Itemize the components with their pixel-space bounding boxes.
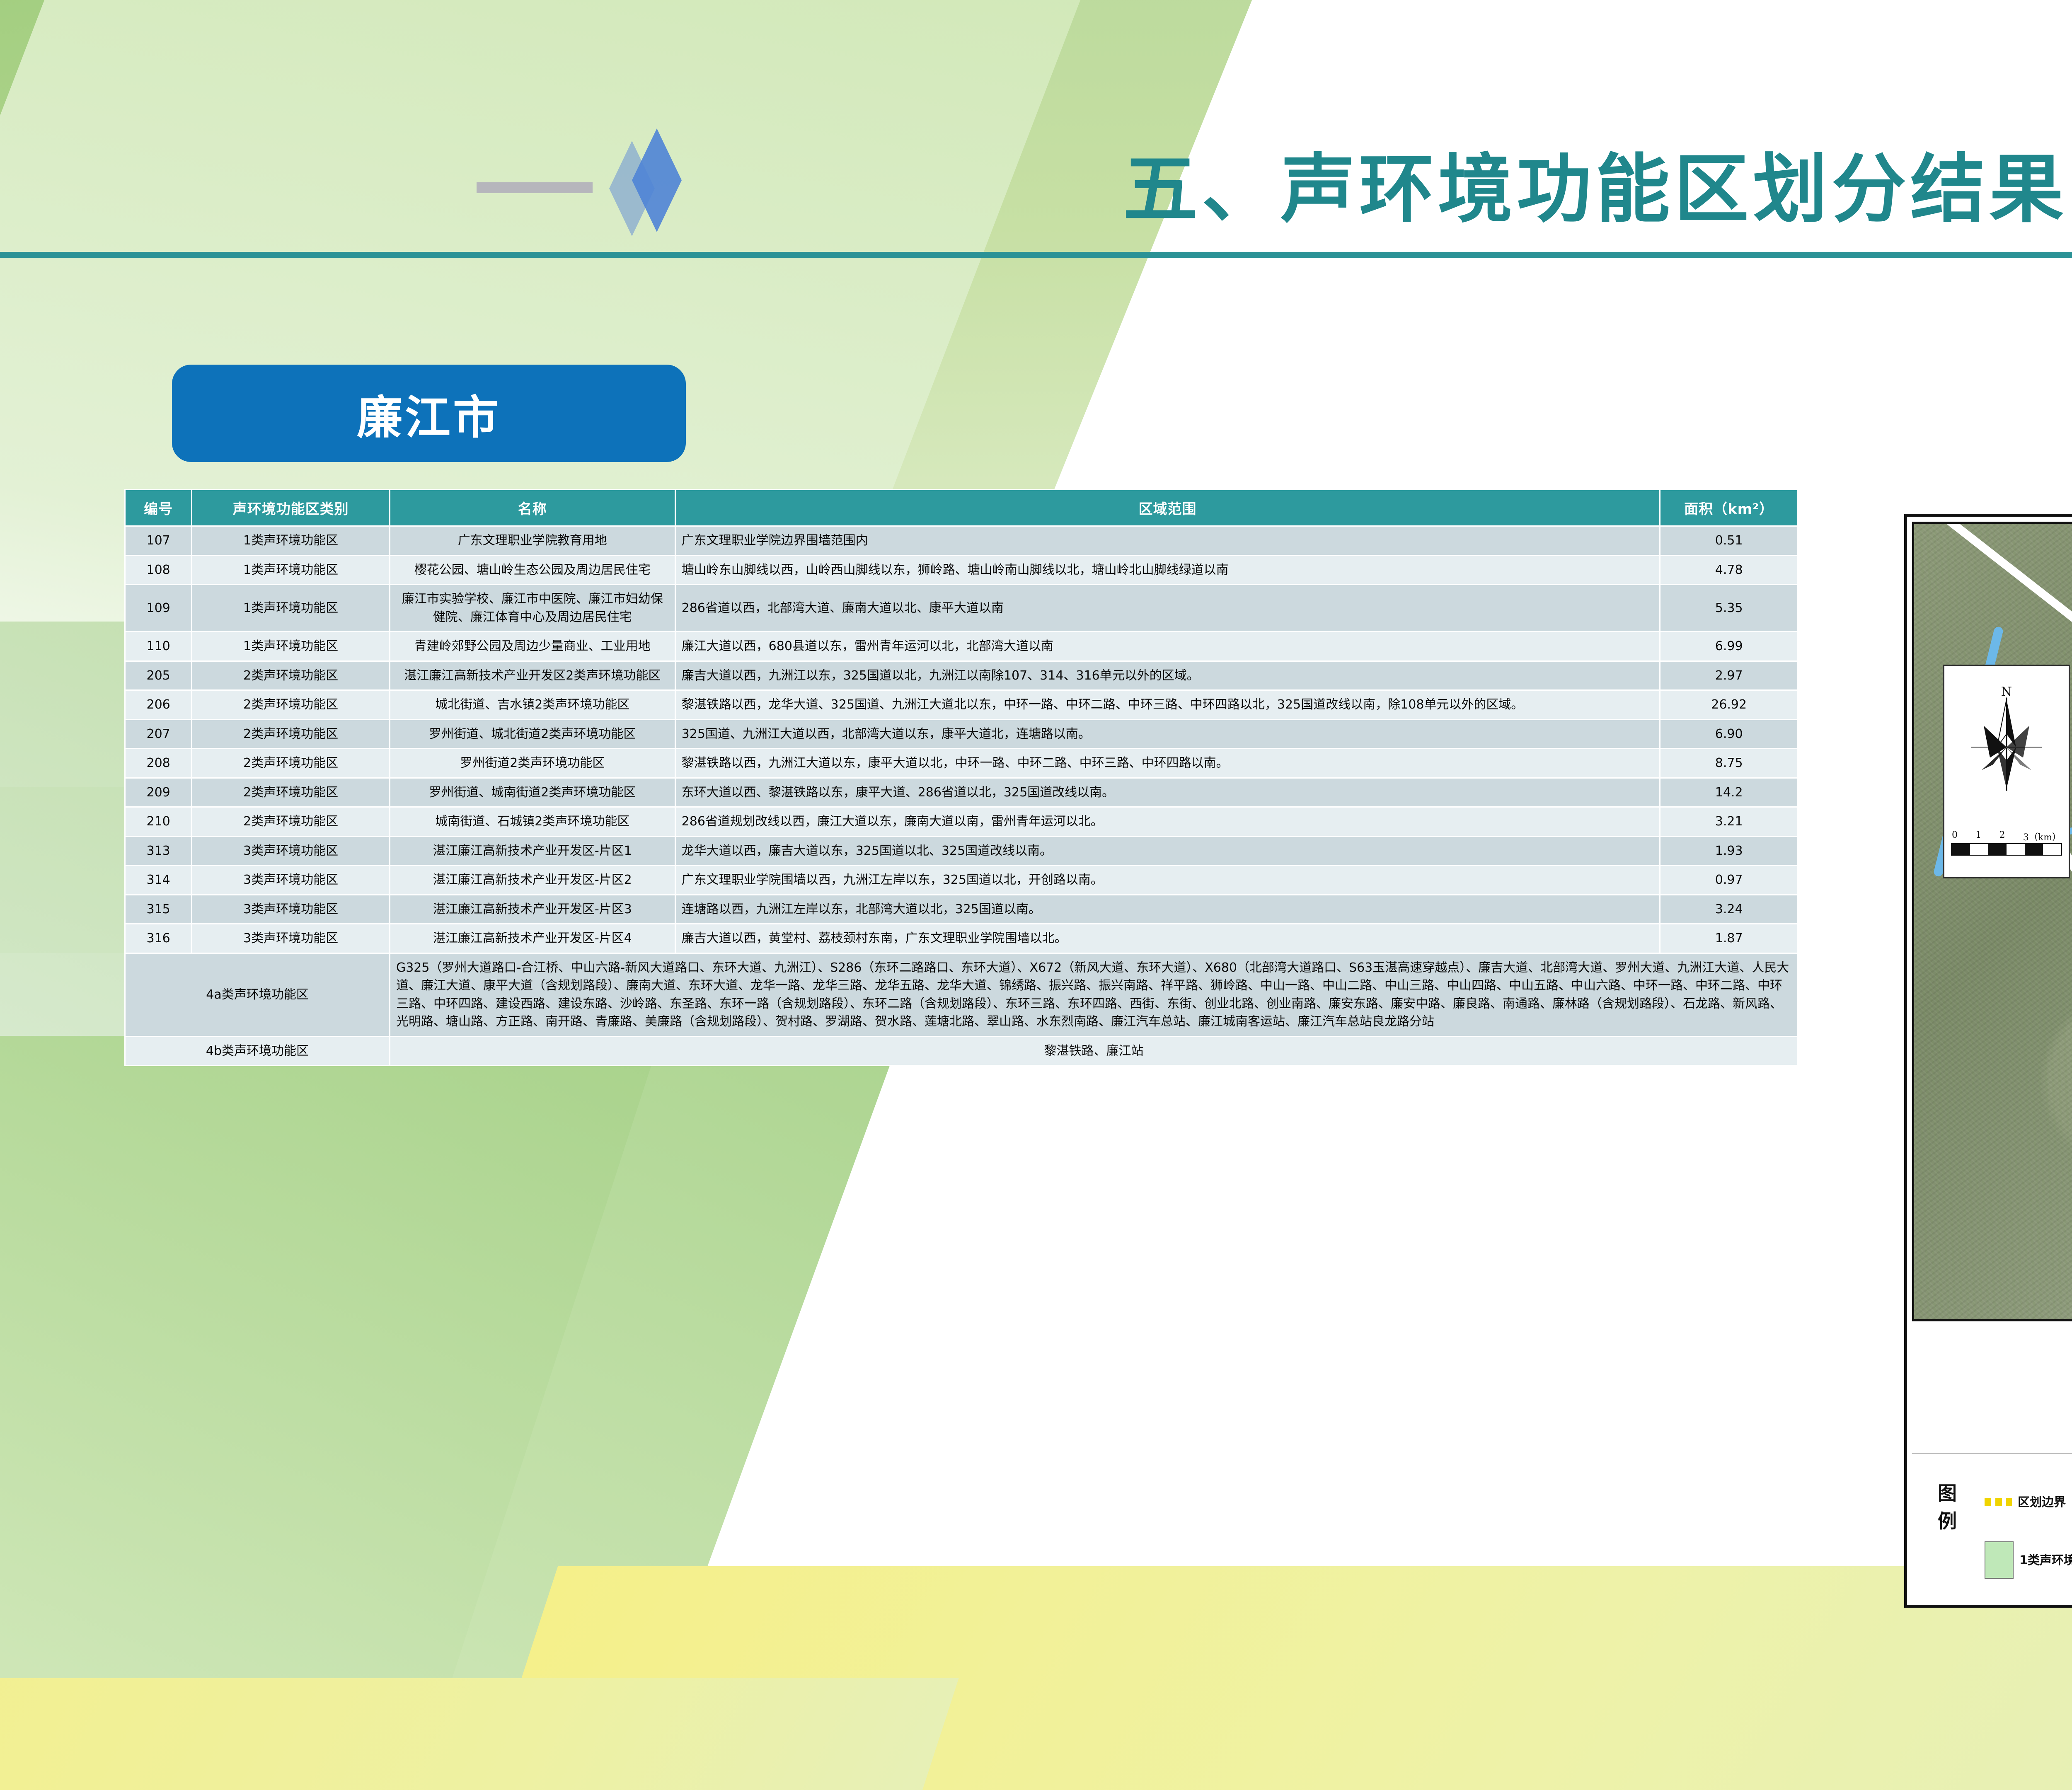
cell-id: 209	[126, 779, 191, 807]
cell-name: 湛江廉江高新技术产业开发区-片区2	[390, 866, 675, 894]
cell-name: 罗州街道2类声环境功能区	[390, 749, 675, 777]
legend-item-label: 区划边界	[2018, 1495, 2066, 1509]
table-row: 1071类声环境功能区广东文理职业学院教育用地广东文理职业学院边界围墙范围内0.…	[126, 527, 1797, 555]
table-row: 1091类声环境功能区廉江市实验学校、廉江市中医院、廉江市妇幼保健院、廉江体育中…	[126, 585, 1797, 631]
cell-range: 325国道、九洲江大道以西，北部湾大道以东，康平大道北，连塘路以南。	[676, 720, 1660, 748]
cell-area: 6.99	[1661, 632, 1797, 660]
cell-name: 湛江廉江高新技术产业开发区-片区4	[390, 924, 675, 953]
cell-span-cat: 4a类声环境功能区	[126, 954, 389, 1036]
cell-id: 110	[126, 632, 191, 660]
cell-cat: 2类声环境功能区	[192, 749, 389, 777]
table-row: 2092类声环境功能区罗州街道、城南街道2类声环境功能区东环大道以西、黎湛铁路以…	[126, 779, 1797, 807]
cell-cat: 3类声环境功能区	[192, 895, 389, 924]
cell-id: 314	[126, 866, 191, 894]
svg-text:N: N	[2001, 685, 2012, 699]
cell-area: 26.92	[1661, 691, 1797, 719]
page-title: 五、声环境功能区划分结果	[787, 120, 2072, 244]
cell-name: 城南街道、石城镇2类声环境功能区	[390, 808, 675, 836]
legend-item: 1类声环境功能区	[1985, 1531, 2072, 1589]
table-row: 3143类声环境功能区湛江廉江高新技术产业开发区-片区2广东文理职业学院围墙以西…	[126, 866, 1797, 894]
table-span-row: 4a类声环境功能区G325（罗州大道路口-合江桥、中山六路-新风大道路口、东环大…	[126, 954, 1797, 1036]
cell-range: 东环大道以西、黎湛铁路以东，康平大道、286省道以北，325国道改线以南。	[676, 779, 1660, 807]
table-row: 3133类声环境功能区湛江廉江高新技术产业开发区-片区1龙华大道以西，廉吉大道以…	[126, 837, 1797, 865]
cell-range: 廉江大道以西，680县道以东，雷州青年运河以北，北部湾大道以南	[676, 632, 1660, 660]
cell-id: 313	[126, 837, 191, 865]
col-header-area: 面积（km²）	[1661, 490, 1797, 525]
table-row: 1081类声环境功能区樱花公园、塘山岭生态公园及周边居民住宅塘山岭东山脚线以西，…	[126, 556, 1797, 584]
table-row: 2062类声环境功能区城北街道、吉水镇2类声环境功能区黎湛铁路以西，龙华大道、3…	[126, 691, 1797, 719]
boundary-line-icon	[1985, 1498, 2012, 1506]
cell-range: 286省道规划改线以西，廉江大道以东，廉南大道以南，雷州青年运河以北。	[676, 808, 1660, 836]
col-header-range: 区域范围	[676, 490, 1660, 525]
scale-tick-2: 2	[1999, 830, 2005, 843]
map-scale-bar: 0 1 2 3（km）	[1951, 830, 2062, 856]
city-badge-label: 廉江市	[357, 380, 501, 447]
cell-range: 廉吉大道以西，黄堂村、荔枝颈村东南，广东文理职业学院围墙以北。	[676, 924, 1660, 953]
legend-swatch-icon	[1985, 1541, 2014, 1579]
cell-range: 塘山岭东山脚线以西，山岭西山脚线以东，狮岭路、塘山岭南山脚线以北，塘山岭北山脚线…	[676, 556, 1660, 584]
cell-name: 罗州街道、城北街道2类声环境功能区	[390, 720, 675, 748]
cell-id: 207	[126, 720, 191, 748]
compass-and-scale-box: N 0 1 2 3（km）	[1943, 665, 2070, 878]
table-row: 3163类声环境功能区湛江廉江高新技术产业开发区-片区4廉吉大道以西，黄堂村、荔…	[126, 924, 1797, 953]
table-row: 2102类声环境功能区城南街道、石城镇2类声环境功能区286省道规划改线以西，廉…	[126, 808, 1797, 836]
cell-cat: 1类声环境功能区	[192, 632, 389, 660]
cell-area: 1.87	[1661, 924, 1797, 953]
cell-area: 3.24	[1661, 895, 1797, 924]
map-image: 廉江市声环境功能区划图 N	[1912, 522, 2072, 1321]
col-header-name: 名称	[390, 490, 675, 525]
cell-area: 3.21	[1661, 808, 1797, 836]
legend-items: 区划边界2类声环境功能区4a类声环境功能区铁路铁路服务场站1类声环境功能区3类声…	[1985, 1473, 2072, 1589]
cell-id: 108	[126, 556, 191, 584]
cell-name: 樱花公园、塘山岭生态公园及周边居民住宅	[390, 556, 675, 584]
table-row: 1101类声环境功能区青建岭郊野公园及周边少量商业、工业用地廉江大道以西，680…	[126, 632, 1797, 660]
cell-cat: 1类声环境功能区	[192, 527, 389, 555]
table-header-row: 编号 声环境功能区类别 名称 区域范围 面积（km²）	[126, 490, 1797, 525]
scale-tick-3: 3（km）	[2023, 830, 2061, 843]
decor-line-left	[477, 182, 593, 193]
cell-id: 109	[126, 585, 191, 631]
cell-span-text: 黎湛铁路、廉江站	[390, 1037, 1797, 1065]
cell-span-text: G325（罗州大道路口-合江桥、中山六路-新风大道路口、东环大道、九洲江）、S2…	[390, 954, 1797, 1036]
cell-area: 1.93	[1661, 837, 1797, 865]
cell-area: 6.90	[1661, 720, 1797, 748]
cell-cat: 1类声环境功能区	[192, 585, 389, 631]
cell-cat: 3类声环境功能区	[192, 866, 389, 894]
cell-range: 廉吉大道以西，九洲江以东，325国道以北，九洲江以南除107、314、316单元…	[676, 662, 1660, 690]
cell-area: 8.75	[1661, 749, 1797, 777]
zone-table: 编号 声环境功能区类别 名称 区域范围 面积（km²） 1071类声环境功能区广…	[124, 489, 1798, 1066]
cell-area: 2.97	[1661, 662, 1797, 690]
cell-id: 315	[126, 895, 191, 924]
table-row: 2082类声环境功能区罗州街道2类声环境功能区黎湛铁路以西，九洲江大道以东，康平…	[126, 749, 1797, 777]
table-row: 2072类声环境功能区罗州街道、城北街道2类声环境功能区325国道、九洲江大道以…	[126, 720, 1797, 748]
table-row: 3153类声环境功能区湛江廉江高新技术产业开发区-片区3连塘路以西，九洲江左岸以…	[126, 895, 1797, 924]
cell-id: 316	[126, 924, 191, 953]
cell-cat: 2类声环境功能区	[192, 662, 389, 690]
cell-area: 4.78	[1661, 556, 1797, 584]
legend-item-label: 1类声环境功能区	[2019, 1553, 2072, 1567]
header-divider-rule	[0, 252, 2072, 258]
cell-cat: 1类声环境功能区	[192, 556, 389, 584]
city-badge: 廉江市	[172, 365, 686, 462]
map-legend: 图例 区划边界2类声环境功能区4a类声环境功能区铁路铁路服务场站1类声环境功能区…	[1912, 1453, 2072, 1600]
cell-id: 210	[126, 808, 191, 836]
cell-id: 206	[126, 691, 191, 719]
cell-area: 5.35	[1661, 585, 1797, 631]
zone-table-container: 编号 声环境功能区类别 名称 区域范围 面积（km²） 1071类声环境功能区广…	[124, 489, 1798, 1066]
cell-name: 廉江市实验学校、廉江市中医院、廉江市妇幼保健院、廉江体育中心及周边居民住宅	[390, 585, 675, 631]
cell-cat: 3类声环境功能区	[192, 924, 389, 953]
cell-area: 0.51	[1661, 527, 1797, 555]
cell-name: 湛江廉江高新技术产业开发区2类声环境功能区	[390, 662, 675, 690]
map-panel: 廉江市声环境功能区划图 N	[1904, 514, 2072, 1608]
cell-cat: 2类声环境功能区	[192, 720, 389, 748]
cell-area: 14.2	[1661, 779, 1797, 807]
scale-tick-1: 1	[1975, 830, 1981, 843]
cell-name: 湛江廉江高新技术产业开发区-片区1	[390, 837, 675, 865]
legend-title: 图例	[1929, 1480, 1966, 1535]
cell-name: 湛江廉江高新技术产业开发区-片区3	[390, 895, 675, 924]
legend-item: 区划边界	[1985, 1473, 2072, 1531]
cell-cat: 2类声环境功能区	[192, 779, 389, 807]
cell-id: 107	[126, 527, 191, 555]
cell-range: 广东文理职业学院边界围墙范围内	[676, 527, 1660, 555]
cell-cat: 2类声环境功能区	[192, 691, 389, 719]
cell-range: 广东文理职业学院围墙以西，九洲江左岸以东，325国道以北，开创路以南。	[676, 866, 1660, 894]
cell-name: 广东文理职业学院教育用地	[390, 527, 675, 555]
table-span-row: 4b类声环境功能区黎湛铁路、廉江站	[126, 1037, 1797, 1065]
cell-name: 青建岭郊野公园及周边少量商业、工业用地	[390, 632, 675, 660]
cell-name: 罗州街道、城南街道2类声环境功能区	[390, 779, 675, 807]
cell-range: 龙华大道以西，廉吉大道以东，325国道以北、325国道改线以南。	[676, 837, 1660, 865]
scale-tick-0: 0	[1952, 830, 1958, 843]
decor-diamonds-left	[593, 124, 725, 249]
cell-span-cat: 4b类声环境功能区	[126, 1037, 389, 1065]
cell-range: 286省道以西，北部湾大道、廉南大道以北、康平大道以南	[676, 585, 1660, 631]
cell-cat: 3类声环境功能区	[192, 837, 389, 865]
cell-cat: 2类声环境功能区	[192, 808, 389, 836]
cell-id: 208	[126, 749, 191, 777]
cell-name: 城北街道、吉水镇2类声环境功能区	[390, 691, 675, 719]
compass-rose-icon: N	[1967, 685, 2046, 799]
col-header-cat: 声环境功能区类别	[192, 490, 389, 525]
cell-range: 黎湛铁路以西，九洲江大道以东，康平大道以北，中环一路、中环二路、中环三路、中环四…	[676, 749, 1660, 777]
cell-id: 205	[126, 662, 191, 690]
col-header-id: 编号	[126, 490, 191, 525]
table-row: 2052类声环境功能区湛江廉江高新技术产业开发区2类声环境功能区廉吉大道以西，九…	[126, 662, 1797, 690]
cell-range: 连塘路以西，九洲江左岸以东，北部湾大道以北，325国道以南。	[676, 895, 1660, 924]
cell-range: 黎湛铁路以西，龙华大道、325国道、九洲江大道北以东，中环一路、中环二路、中环三…	[676, 691, 1660, 719]
cell-area: 0.97	[1661, 866, 1797, 894]
